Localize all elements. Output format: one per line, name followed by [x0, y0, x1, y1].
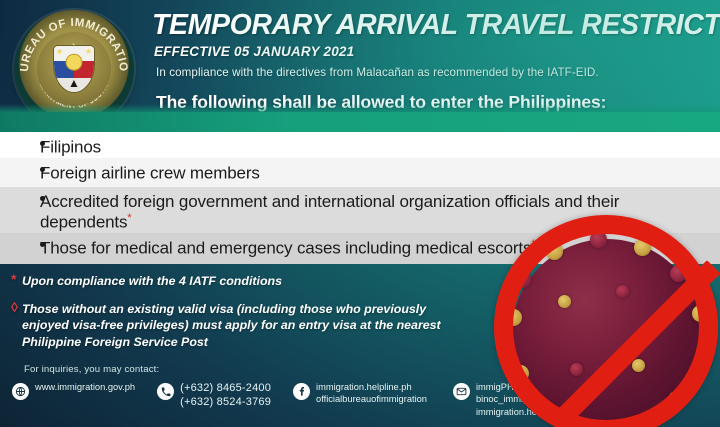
page-title: TEMPORARY ARRIVAL TRAVEL RESTRICTIONS	[152, 11, 720, 40]
footnote-marker: ◊	[11, 298, 18, 317]
email-address: immigPH@gmail.com	[476, 381, 623, 393]
bullet-icon	[40, 196, 45, 201]
eagle-icon: ▲	[68, 76, 80, 90]
effective-date: EFFECTIVE 05 JANUARY 2021	[154, 44, 354, 59]
inquiries-heading: For inquiries, you may contact:	[24, 364, 159, 375]
contact-website[interactable]: www.immigration.gov.ph	[12, 381, 135, 400]
list-item: Accredited foreign government and intern…	[0, 187, 720, 233]
phone-number: (+632) 8524-3769	[180, 395, 271, 409]
footnotes: * Upon compliance with the 4 IATF condit…	[0, 264, 720, 351]
list-item-label: Filipinos	[40, 138, 101, 157]
facebook-page: immigration.helpline.ph	[316, 381, 427, 393]
footnote: ◊ Those without an existing valid visa (…	[0, 301, 720, 351]
list-item: Foreign airline crew members	[0, 158, 720, 187]
list-item: Those for medical and emergency cases in…	[0, 233, 720, 264]
list-item-marks: *	[127, 212, 131, 224]
list-item-label: Those for medical and emergency cases in…	[40, 239, 531, 258]
footnote-marker: *	[11, 270, 16, 289]
phone-numbers: (+632) 8465-2400 (+632) 8524-3769	[180, 381, 271, 410]
bullet-icon	[40, 242, 45, 247]
allowed-list: Filipinos Foreign airline crew members A…	[0, 132, 720, 264]
list-item: Filipinos	[0, 132, 720, 158]
email-address: binoc_immigration@hotmail.ph	[476, 393, 623, 405]
website-url: www.immigration.gov.ph	[35, 381, 135, 393]
phone-number: (+632) 8465-2400	[180, 381, 271, 395]
email-addresses: immigPH@gmail.com binoc_immigration@hotm…	[476, 381, 623, 418]
list-item-label: Foreign airline crew members	[40, 164, 260, 183]
globe-icon	[12, 383, 29, 400]
list-item-marks: *◊	[531, 238, 541, 250]
phone-icon	[157, 383, 174, 400]
travel-restrictions-poster: BUREAU OF IMMIGRATION DEPARTMENT OF JUST…	[0, 0, 720, 427]
compliance-note: In compliance with the directives from M…	[156, 66, 599, 79]
facebook-icon	[293, 383, 310, 400]
bullet-icon	[40, 167, 45, 172]
facebook-page: officialbureauofimmigration	[316, 393, 427, 405]
contact-bar: www.immigration.gov.ph (+632) 8465-2400 …	[12, 381, 623, 418]
email-address: immigration.helpline.ph@gmail.com	[476, 406, 623, 418]
green-separator-band	[0, 112, 720, 132]
seal-inner-disc: ✈ ★ ★ ▲	[37, 32, 111, 106]
footnote-text: Those without an existing valid visa (in…	[22, 302, 441, 349]
footnote: * Upon compliance with the 4 IATF condit…	[0, 273, 720, 290]
contact-email[interactable]: immigPH@gmail.com binoc_immigration@hotm…	[453, 381, 623, 418]
contact-phone[interactable]: (+632) 8465-2400 (+632) 8524-3769	[157, 381, 271, 410]
bullet-icon	[40, 141, 45, 146]
contact-facebook[interactable]: immigration.helpline.ph officialbureauof…	[293, 381, 427, 406]
envelope-icon	[453, 383, 470, 400]
footnote-text: Upon compliance with the 4 IATF conditio…	[22, 274, 282, 288]
facebook-pages: immigration.helpline.ph officialbureauof…	[316, 381, 427, 406]
